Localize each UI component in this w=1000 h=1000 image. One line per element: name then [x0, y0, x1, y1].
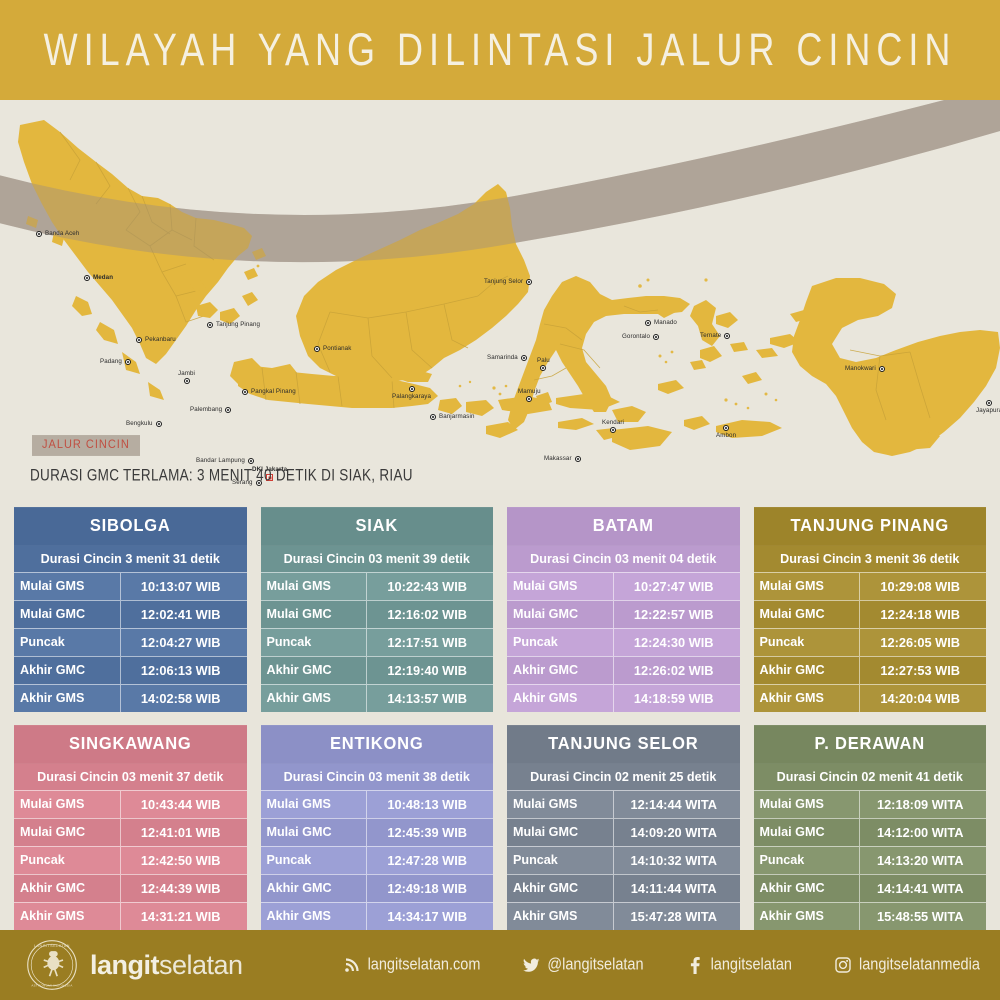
table-row: Puncak14:13:20 WITA [754, 846, 987, 874]
city-marker: Palu [537, 357, 550, 371]
row-value: 12:26:05 WIB [860, 629, 986, 656]
table-row: Akhir GMC12:27:53 WIB [754, 656, 987, 684]
row-label: Akhir GMS [14, 903, 121, 930]
map-panel: Banda Aceh Medan Pekanbaru Padang Jambi … [0, 100, 1000, 490]
table-row: Akhir GMC12:06:13 WIB [14, 656, 247, 684]
row-label: Akhir GMS [261, 685, 368, 712]
row-label: Akhir GMS [754, 903, 861, 930]
card-title: BATAM [507, 507, 740, 546]
row-value: 12:16:02 WIB [367, 601, 493, 628]
row-label: Mulai GMS [14, 791, 121, 818]
table-row: Mulai GMC12:24:18 WIB [754, 600, 987, 628]
city-dot-icon [136, 337, 142, 343]
row-label: Akhir GMS [507, 685, 614, 712]
table-row: Mulai GMC12:22:57 WIB [507, 600, 740, 628]
city-marker: Manokwari [845, 365, 885, 372]
table-row: Akhir GMC12:49:18 WIB [261, 874, 494, 902]
city-dot-icon [184, 378, 190, 384]
row-label: Mulai GMS [754, 573, 861, 600]
row-value: 15:47:28 WITA [614, 903, 740, 930]
table-row: Akhir GMC12:44:39 WIB [14, 874, 247, 902]
city-marker: Samarinda [487, 354, 527, 361]
city-dot-icon [526, 279, 532, 285]
table-row: Akhir GMC12:26:02 WIB [507, 656, 740, 684]
table-row: Akhir GMS14:02:58 WIB [14, 684, 247, 712]
city-marker: Makassar [544, 455, 581, 462]
row-value: 12:06:13 WIB [121, 657, 247, 684]
card-title: TANJUNG SELOR [507, 725, 740, 764]
row-value: 12:04:27 WIB [121, 629, 247, 656]
row-value: 12:18:09 WITA [860, 791, 986, 818]
card-tanjung-pinang: TANJUNG PINANG Durasi Cincin 3 menit 36 … [754, 508, 987, 712]
row-value: 12:49:18 WIB [367, 875, 493, 902]
row-label: Puncak [507, 629, 614, 656]
city-dot-icon [540, 365, 546, 371]
table-row: Mulai GMC14:09:20 WITA [507, 818, 740, 846]
row-label: Mulai GMS [507, 791, 614, 818]
city-dot-icon [526, 396, 532, 402]
city-dot-icon [724, 333, 730, 339]
row-value: 15:48:55 WITA [860, 903, 986, 930]
table-row: Mulai GMS10:22:43 WIB [261, 572, 494, 600]
table-row: Puncak12:04:27 WIB [14, 628, 247, 656]
city-timing-cards-grid: SIBOLGA Durasi Cincin 3 menit 31 detik M… [14, 508, 986, 930]
row-label: Puncak [507, 847, 614, 874]
row-value: 14:31:21 WIB [121, 903, 247, 930]
row-label: Akhir GMC [261, 657, 368, 684]
row-value: 12:42:50 WIB [121, 847, 247, 874]
social-link-instagram[interactable]: langitselatanmedia [834, 956, 980, 974]
row-label: Mulai GMS [261, 573, 368, 600]
row-value: 14:11:44 WITA [614, 875, 740, 902]
card-duration: Durasi Cincin 02 menit 41 detik [754, 763, 987, 790]
table-row: Puncak12:24:30 WIB [507, 628, 740, 656]
row-value: 12:14:44 WITA [614, 791, 740, 818]
row-label: Mulai GMS [261, 791, 368, 818]
row-label: Mulai GMC [754, 819, 861, 846]
brand-wordmark: langitselatan [90, 950, 243, 981]
city-dot-icon [314, 346, 320, 352]
table-row: Mulai GMS10:27:47 WIB [507, 572, 740, 600]
infographic-root: WILAYAH YANG DILINTASI JALUR CINCIN [0, 0, 1000, 1000]
city-marker: Manado [645, 319, 677, 326]
city-marker: Kendari [602, 419, 624, 433]
row-label: Akhir GMC [754, 875, 861, 902]
city-dot-icon [207, 322, 213, 328]
card-sibolga: SIBOLGA Durasi Cincin 3 menit 31 detik M… [14, 508, 247, 712]
table-row: Puncak12:26:05 WIB [754, 628, 987, 656]
row-label: Puncak [754, 629, 861, 656]
city-marker: Medan [84, 274, 113, 281]
city-dot-icon [225, 407, 231, 413]
row-value: 10:48:13 WIB [367, 791, 493, 818]
row-label: Puncak [754, 847, 861, 874]
table-row: Puncak12:47:28 WIB [261, 846, 494, 874]
row-value: 12:44:39 WIB [121, 875, 247, 902]
table-row: Akhir GMC14:11:44 WITA [507, 874, 740, 902]
card-siak: SIAK Durasi Cincin 03 menit 39 detik Mul… [261, 508, 494, 712]
svg-text:LANGITSELATAN: LANGITSELATAN [34, 944, 70, 948]
card-p-derawan: P. DERAWAN Durasi Cincin 02 menit 41 det… [754, 726, 987, 930]
city-dot-icon [610, 427, 616, 433]
row-label: Puncak [14, 629, 121, 656]
row-label: Mulai GMC [14, 601, 121, 628]
table-row: Mulai GMS10:43:44 WIB [14, 790, 247, 818]
card-entikong: ENTIKONG Durasi Cincin 03 menit 38 detik… [261, 726, 494, 930]
row-value: 12:47:28 WIB [367, 847, 493, 874]
table-row: Akhir GMC14:14:41 WITA [754, 874, 987, 902]
row-label: Akhir GMC [261, 875, 368, 902]
brand-light-text: selatan [159, 950, 243, 980]
row-label: Mulai GMC [507, 601, 614, 628]
row-value: 12:24:18 WIB [860, 601, 986, 628]
social-label: langitselatan [711, 956, 792, 974]
social-links: langitselatan.com @langitselatan langits… [343, 956, 980, 974]
social-label: @langitselatan [547, 956, 643, 974]
table-row: Mulai GMS10:48:13 WIB [261, 790, 494, 818]
row-label: Akhir GMC [507, 657, 614, 684]
city-dot-icon [125, 359, 131, 365]
table-row: Mulai GMC12:45:39 WIB [261, 818, 494, 846]
table-row: Mulai GMC14:12:00 WITA [754, 818, 987, 846]
row-label: Akhir GMS [14, 685, 121, 712]
row-value: 12:41:01 WIB [121, 819, 247, 846]
social-link-twitter[interactable]: @langitselatan [522, 956, 643, 974]
table-row: Puncak12:17:51 WIB [261, 628, 494, 656]
row-value: 10:29:08 WIB [860, 573, 986, 600]
table-row: Mulai GMC12:41:01 WIB [14, 818, 247, 846]
header-banner: WILAYAH YANG DILINTASI JALUR CINCIN [0, 0, 1000, 100]
row-value: 14:13:57 WIB [367, 685, 493, 712]
row-label: Akhir GMC [14, 875, 121, 902]
table-row: Mulai GMS10:29:08 WIB [754, 572, 987, 600]
row-value: 10:22:43 WIB [367, 573, 493, 600]
city-dot-icon [242, 389, 248, 395]
social-label: langitselatan.com [368, 956, 481, 974]
card-singkawang: SINGKAWANG Durasi Cincin 03 menit 37 det… [14, 726, 247, 930]
card-title: ENTIKONG [261, 725, 494, 764]
row-value: 14:12:00 WITA [860, 819, 986, 846]
card-duration: Durasi Cincin 03 menit 04 detik [507, 545, 740, 572]
city-marker: Pontianak [314, 345, 351, 352]
row-value: 12:27:53 WIB [860, 657, 986, 684]
langitselatan-seal-logo: LANGITSELATAN ASTRONOMI INDONESIA [26, 939, 78, 991]
row-value: 10:13:07 WIB [121, 573, 247, 600]
city-marker: Pekanbaru [136, 336, 176, 343]
city-marker: Gorontalo [622, 333, 659, 340]
twitter-icon [522, 956, 540, 974]
city-marker: Banda Aceh [36, 230, 79, 237]
table-row: Akhir GMS15:47:28 WITA [507, 902, 740, 930]
card-batam: BATAM Durasi Cincin 03 menit 04 detik Mu… [507, 508, 740, 712]
city-marker: Ternate [700, 332, 730, 339]
card-title: SIAK [261, 507, 494, 546]
row-label: Mulai GMC [507, 819, 614, 846]
table-row: Puncak14:10:32 WITA [507, 846, 740, 874]
footer-bar: LANGITSELATAN ASTRONOMI INDONESIA langit… [0, 930, 1000, 1000]
indonesia-map [0, 100, 1000, 490]
table-row: Akhir GMS14:31:21 WIB [14, 902, 247, 930]
table-row: Akhir GMS14:34:17 WIB [261, 902, 494, 930]
card-tanjung-selor: TANJUNG SELOR Durasi Cincin 02 menit 25 … [507, 726, 740, 930]
row-label: Akhir GMC [14, 657, 121, 684]
city-marker: Pangkal Pinang [242, 388, 296, 395]
city-marker: Bandar Lampung [196, 457, 254, 464]
row-label: Mulai GMC [261, 601, 368, 628]
social-link-website[interactable]: langitselatan.com [343, 956, 481, 974]
city-marker: Palangkaraya [392, 386, 431, 400]
card-duration: Durasi Cincin 02 menit 25 detik [507, 763, 740, 790]
card-duration: Durasi Cincin 03 menit 39 detik [261, 545, 494, 572]
facebook-icon [686, 956, 704, 974]
row-value: 14:02:58 WIB [121, 685, 247, 712]
row-value: 14:13:20 WITA [860, 847, 986, 874]
table-row: Akhir GMS15:48:55 WITA [754, 902, 987, 930]
card-duration: Durasi Cincin 03 menit 38 detik [261, 763, 494, 790]
city-marker: Jambi [178, 370, 195, 384]
social-link-facebook[interactable]: langitselatan [686, 956, 792, 974]
city-dot-icon [645, 320, 651, 326]
brand-block: LANGITSELATAN ASTRONOMI INDONESIA langit… [26, 939, 243, 991]
legend-label: JALUR CINCIN [42, 438, 130, 451]
table-row: Akhir GMC12:19:40 WIB [261, 656, 494, 684]
page-title: WILAYAH YANG DILINTASI JALUR CINCIN [44, 24, 957, 77]
row-value: 10:27:47 WIB [614, 573, 740, 600]
table-row: Mulai GMC12:16:02 WIB [261, 600, 494, 628]
city-marker: Tanjung Pinang [207, 321, 260, 328]
city-dot-icon [653, 334, 659, 340]
table-row: Mulai GMS12:18:09 WITA [754, 790, 987, 818]
table-row: Akhir GMS14:20:04 WIB [754, 684, 987, 712]
row-label: Puncak [261, 629, 368, 656]
city-marker: Padang [100, 358, 131, 365]
row-value: 12:02:41 WIB [121, 601, 247, 628]
row-value: 14:18:59 WIB [614, 685, 740, 712]
city-marker: Bengkulu [126, 420, 162, 427]
table-row: Mulai GMC12:02:41 WIB [14, 600, 247, 628]
row-label: Mulai GMS [14, 573, 121, 600]
instagram-icon [834, 956, 852, 974]
row-value: 10:43:44 WIB [121, 791, 247, 818]
city-marker: Ambon [716, 425, 736, 439]
city-dot-icon [879, 366, 885, 372]
row-label: Mulai GMS [507, 573, 614, 600]
city-marker: Banjarmasin [430, 413, 475, 420]
row-label: Puncak [261, 847, 368, 874]
city-dot-icon [986, 400, 992, 406]
city-dot-icon [575, 456, 581, 462]
city-dot-icon [430, 414, 436, 420]
social-label: langitselatanmedia [859, 956, 980, 974]
card-duration: Durasi Cincin 3 menit 36 detik [754, 545, 987, 572]
city-marker: Jayapura [976, 400, 1000, 414]
row-label: Puncak [14, 847, 121, 874]
city-dot-icon [84, 275, 90, 281]
city-dot-icon [36, 231, 42, 237]
card-duration: Durasi Cincin 3 menit 31 detik [14, 545, 247, 572]
card-title: SINGKAWANG [14, 725, 247, 764]
rss-icon [343, 956, 361, 974]
table-row: Puncak12:42:50 WIB [14, 846, 247, 874]
city-dot-icon [409, 386, 415, 392]
row-value: 12:19:40 WIB [367, 657, 493, 684]
row-label: Akhir GMS [261, 903, 368, 930]
row-label: Akhir GMC [507, 875, 614, 902]
svg-text:ASTRONOMI INDONESIA: ASTRONOMI INDONESIA [31, 984, 72, 988]
city-dot-icon [156, 421, 162, 427]
row-value: 14:34:17 WIB [367, 903, 493, 930]
row-value: 14:09:20 WITA [614, 819, 740, 846]
row-label: Akhir GMC [754, 657, 861, 684]
row-value: 14:14:41 WITA [860, 875, 986, 902]
table-row: Akhir GMS14:18:59 WIB [507, 684, 740, 712]
row-value: 12:17:51 WIB [367, 629, 493, 656]
map-caption: DURASI GMC TERLAMA: 3 MENIT 40 DETIK DI … [30, 466, 413, 484]
table-row: Mulai GMS12:14:44 WITA [507, 790, 740, 818]
city-dot-icon [521, 355, 527, 361]
row-value: 12:22:57 WIB [614, 601, 740, 628]
row-label: Mulai GMC [754, 601, 861, 628]
brand-bold-text: langit [90, 950, 159, 980]
card-title: TANJUNG PINANG [754, 507, 987, 546]
row-value: 14:20:04 WIB [860, 685, 986, 712]
table-row: Mulai GMS10:13:07 WIB [14, 572, 247, 600]
row-value: 12:24:30 WIB [614, 629, 740, 656]
table-row: Akhir GMS14:13:57 WIB [261, 684, 494, 712]
row-label: Akhir GMS [754, 685, 861, 712]
card-duration: Durasi Cincin 03 menit 37 detik [14, 763, 247, 790]
city-marker: Mamuju [518, 388, 541, 402]
city-dot-icon [248, 458, 254, 464]
card-title: P. DERAWAN [754, 725, 987, 764]
city-marker: Tanjung Selor [484, 278, 532, 285]
row-value: 12:26:02 WIB [614, 657, 740, 684]
row-label: Akhir GMS [507, 903, 614, 930]
row-value: 12:45:39 WIB [367, 819, 493, 846]
row-label: Mulai GMS [754, 791, 861, 818]
city-marker: Palembang [190, 406, 231, 413]
row-value: 14:10:32 WITA [614, 847, 740, 874]
row-label: Mulai GMC [261, 819, 368, 846]
city-dot-icon [723, 425, 729, 431]
legend-jalur-cincin: JALUR CINCIN [32, 435, 140, 456]
card-title: SIBOLGA [14, 507, 247, 546]
row-label: Mulai GMC [14, 819, 121, 846]
